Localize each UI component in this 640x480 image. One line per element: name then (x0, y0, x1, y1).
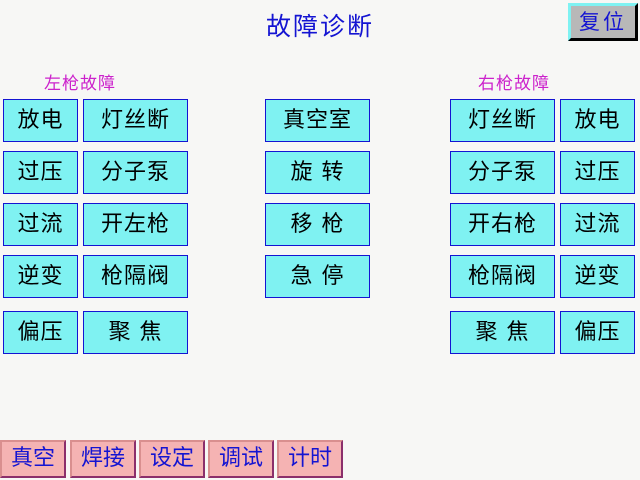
fault-button-left-molecular-pump[interactable]: 分子泵 (83, 151, 188, 194)
fault-button-right-overcurrent[interactable]: 过流 (560, 203, 635, 246)
fault-button-emergency-stop[interactable]: 急 停 (265, 255, 370, 298)
fault-button-left-discharge[interactable]: 放电 (3, 99, 78, 142)
toolbar-button-welding[interactable]: 焊接 (70, 440, 136, 478)
fault-button-left-focus[interactable]: 聚 焦 (83, 311, 188, 354)
fault-button-rotate[interactable]: 旋 转 (265, 151, 370, 194)
page-title: 故障诊断 (0, 12, 640, 42)
reset-button[interactable]: 复位 (568, 3, 638, 41)
fault-button-left-overvoltage[interactable]: 过压 (3, 151, 78, 194)
fault-button-open-right-gun[interactable]: 开右枪 (450, 203, 555, 246)
left-gun-fault-label: 左枪故障 (44, 74, 116, 94)
fault-button-left-overcurrent[interactable]: 过流 (3, 203, 78, 246)
fault-button-left-filament-break[interactable]: 灯丝断 (83, 99, 188, 142)
fault-diagnosis-screen: 故障诊断 复位 左枪故障 右枪故障 放电 灯丝断 过压 分子泵 过流 开左枪 逆… (0, 0, 640, 480)
fault-button-right-molecular-pump[interactable]: 分子泵 (450, 151, 555, 194)
fault-button-left-bias[interactable]: 偏压 (3, 311, 78, 354)
fault-button-right-focus[interactable]: 聚 焦 (450, 311, 555, 354)
fault-button-vacuum-chamber[interactable]: 真空室 (265, 99, 370, 142)
toolbar-button-debug[interactable]: 调试 (208, 440, 274, 478)
fault-button-left-inverter[interactable]: 逆变 (3, 255, 78, 298)
fault-button-right-gun-valve[interactable]: 枪隔阀 (450, 255, 555, 298)
fault-button-move-gun[interactable]: 移 枪 (265, 203, 370, 246)
fault-button-right-overvoltage[interactable]: 过压 (560, 151, 635, 194)
fault-button-right-discharge[interactable]: 放电 (560, 99, 635, 142)
fault-button-left-gun-valve[interactable]: 枪隔阀 (83, 255, 188, 298)
fault-button-open-left-gun[interactable]: 开左枪 (83, 203, 188, 246)
toolbar-button-vacuum[interactable]: 真空 (0, 440, 66, 478)
fault-button-right-inverter[interactable]: 逆变 (560, 255, 635, 298)
fault-button-right-bias[interactable]: 偏压 (560, 311, 635, 354)
toolbar-button-setting[interactable]: 设定 (139, 440, 205, 478)
right-gun-fault-label: 右枪故障 (478, 74, 550, 94)
fault-button-right-filament-break[interactable]: 灯丝断 (450, 99, 555, 142)
toolbar-button-timer[interactable]: 计时 (277, 440, 343, 478)
